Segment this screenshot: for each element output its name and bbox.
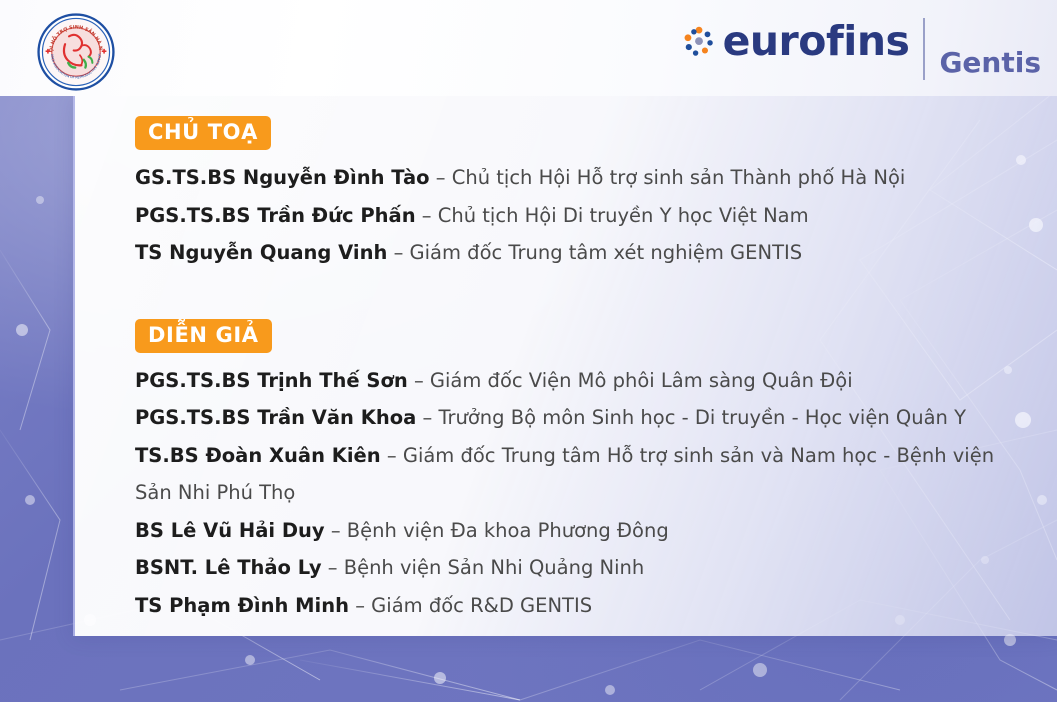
- brand-divider: [923, 18, 925, 80]
- presentation-slide: HỘI HỖ TRỢ SINH SẢN HÀ NỘI HANOI ASSOCIA…: [0, 0, 1057, 702]
- list-item: TS Phạm Đình Minh – Giám đốc R&D GENTIS: [135, 587, 1005, 625]
- person-name: PGS.TS.BS Trần Văn Khoa: [135, 406, 416, 429]
- person-name: TS.BS Đoàn Xuân Kiên: [135, 444, 381, 467]
- person-name: PGS.TS.BS Trần Đức Phấn: [135, 204, 416, 227]
- list-item: GS.TS.BS Nguyễn Đình Tào – Chủ tịch Hội …: [135, 159, 1005, 197]
- slide-header: HỘI HỖ TRỢ SINH SẢN HÀ NỘI HANOI ASSOCIA…: [0, 0, 1057, 96]
- person-role: Giám đốc Viện Mô phôi Lâm sàng Quân Đội: [430, 369, 853, 392]
- section-chairpersons: CHỦ TOẠ GS.TS.BS Nguyễn Đình Tào – Chủ t…: [135, 116, 1005, 272]
- person-role: Bệnh viện Sản Nhi Quảng Ninh: [344, 556, 645, 579]
- person-dash: –: [331, 519, 341, 542]
- person-dash: –: [422, 204, 432, 227]
- person-dash: –: [387, 444, 397, 467]
- person-dash: –: [436, 166, 446, 189]
- person-name: TS Phạm Đình Minh: [135, 594, 349, 617]
- section-badge-speakers: DIỄN GIẢ: [135, 319, 272, 353]
- hospital-emblem-logo: HỘI HỖ TRỢ SINH SẢN HÀ NỘI HANOI ASSOCIA…: [37, 13, 115, 91]
- list-item: PGS.TS.BS Trần Văn Khoa – Trưởng Bộ môn …: [135, 399, 1005, 437]
- list-item: PGS.TS.BS Trịnh Thế Sơn – Giám đốc Viện …: [135, 362, 1005, 400]
- list-item: BSNT. Lê Thảo Ly – Bệnh viện Sản Nhi Quả…: [135, 549, 1005, 587]
- eurofins-dots-icon: [682, 25, 716, 59]
- person-role: Chủ tịch Hội Di truyền Y học Việt Nam: [438, 204, 809, 227]
- person-name: BSNT. Lê Thảo Ly: [135, 556, 322, 579]
- person-role: Chủ tịch Hội Hỗ trợ sinh sản Thành phố H…: [452, 166, 906, 189]
- person-role: Trưởng Bộ môn Sinh học - Di truyền - Học…: [438, 406, 966, 429]
- chairperson-list: GS.TS.BS Nguyễn Đình Tào – Chủ tịch Hội …: [135, 159, 1005, 272]
- speaker-list: PGS.TS.BS Trịnh Thế Sơn – Giám đốc Viện …: [135, 362, 1005, 625]
- person-role: Giám đốc Trung tâm xét nghiệm GENTIS: [410, 241, 803, 264]
- person-role: Bệnh viện Đa khoa Phương Đông: [347, 519, 669, 542]
- list-item: PGS.TS.BS Trần Đức Phấn – Chủ tịch Hội D…: [135, 197, 1005, 235]
- person-name: BS Lê Vũ Hải Duy: [135, 519, 325, 542]
- person-dash: –: [355, 594, 365, 617]
- person-dash: –: [422, 406, 432, 429]
- eurofins-wordmark: eurofins: [723, 18, 910, 64]
- list-item: TS Nguyễn Quang Vinh – Giám đốc Trung tâ…: [135, 234, 1005, 272]
- section-badge-chairpersons: CHỦ TOẠ: [135, 116, 271, 150]
- list-item: BS Lê Vũ Hải Duy – Bệnh viện Đa khoa Phư…: [135, 512, 1005, 550]
- person-role: Giám đốc R&D GENTIS: [371, 594, 592, 617]
- person-dash: –: [394, 241, 404, 264]
- eurofins-brand-lockup: eurofins Gentis: [682, 18, 1041, 82]
- person-dash: –: [328, 556, 338, 579]
- person-name: TS Nguyễn Quang Vinh: [135, 241, 387, 264]
- person-name: GS.TS.BS Nguyễn Đình Tào: [135, 166, 430, 189]
- gentis-wordmark: Gentis: [939, 46, 1041, 82]
- list-item: TS.BS Đoàn Xuân Kiên – Giám đốc Trung tâ…: [135, 437, 1005, 512]
- section-speakers: DIỄN GIẢ PGS.TS.BS Trịnh Thế Sơn – Giám …: [135, 319, 1005, 625]
- person-name: PGS.TS.BS Trịnh Thế Sơn: [135, 369, 408, 392]
- slide-content: CHỦ TOẠ GS.TS.BS Nguyễn Đình Tào – Chủ t…: [135, 116, 1005, 624]
- person-dash: –: [414, 369, 424, 392]
